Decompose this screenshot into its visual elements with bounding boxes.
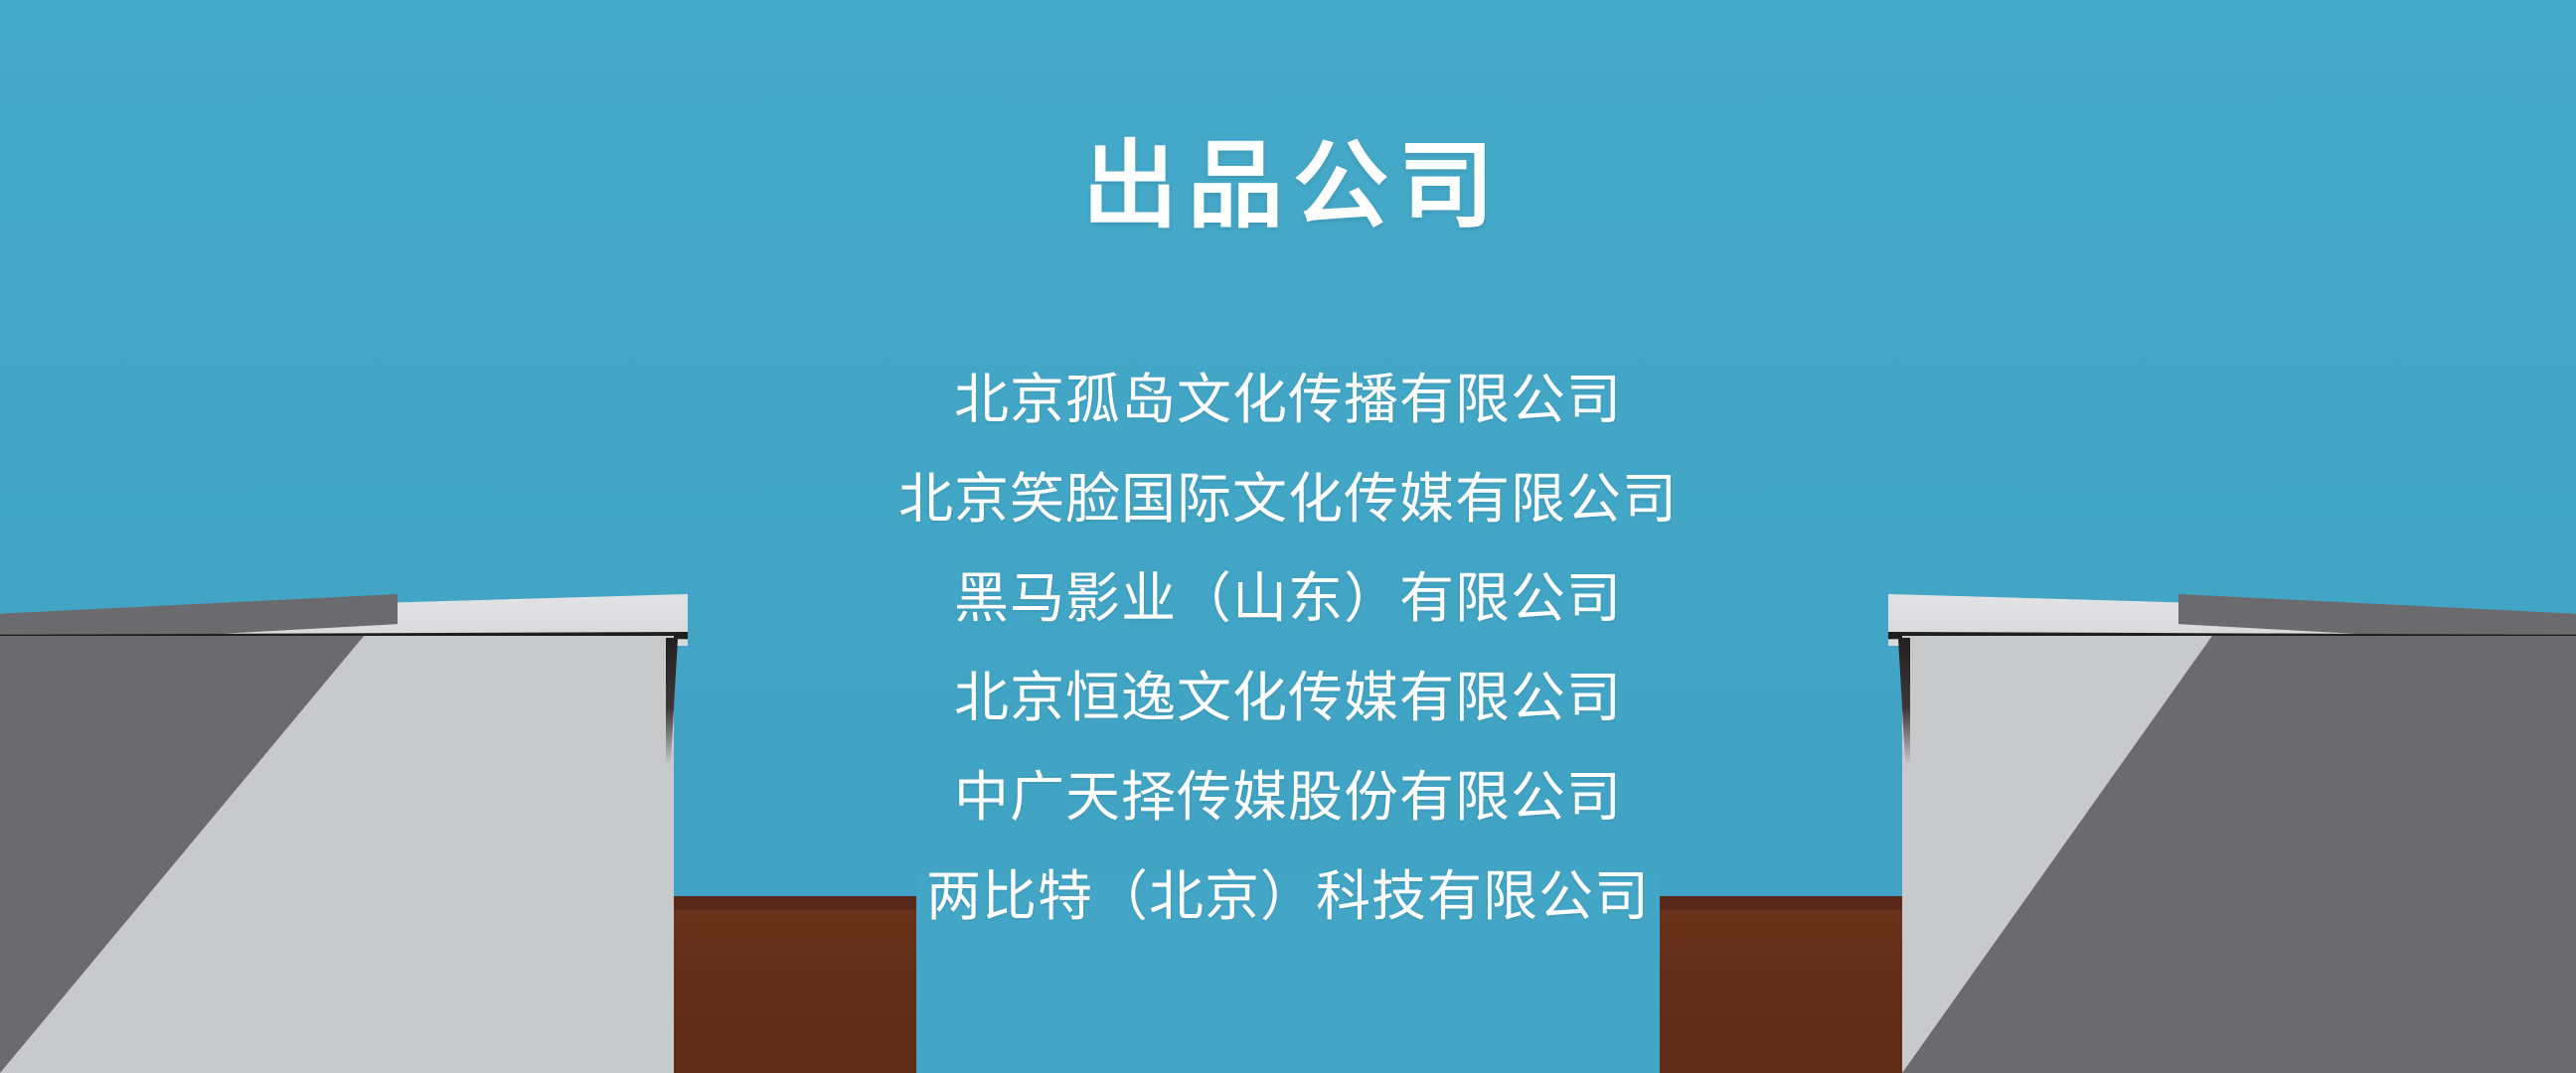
company-name: 北京恒逸文化传媒有限公司 [0, 648, 2576, 747]
company-name: 黑马影业（山东）有限公司 [0, 548, 2576, 648]
company-list: 北京孤岛文化传播有限公司 北京笑脸国际文化传媒有限公司 黑马影业（山东）有限公司… [0, 350, 2576, 946]
credit-card-frame: 出品公司 北京孤岛文化传播有限公司 北京笑脸国际文化传媒有限公司 黑马影业（山东… [0, 0, 2576, 1073]
company-name: 两比特（北京）科技有限公司 [0, 846, 2576, 946]
company-name: 北京孤岛文化传播有限公司 [0, 350, 2576, 449]
credits-overlay: 出品公司 北京孤岛文化传播有限公司 北京笑脸国际文化传媒有限公司 黑马影业（山东… [0, 0, 2576, 1073]
company-name: 中广天择传媒股份有限公司 [0, 747, 2576, 846]
credits-heading: 出品公司 [0, 139, 2576, 234]
company-name: 北京笑脸国际文化传媒有限公司 [0, 449, 2576, 548]
